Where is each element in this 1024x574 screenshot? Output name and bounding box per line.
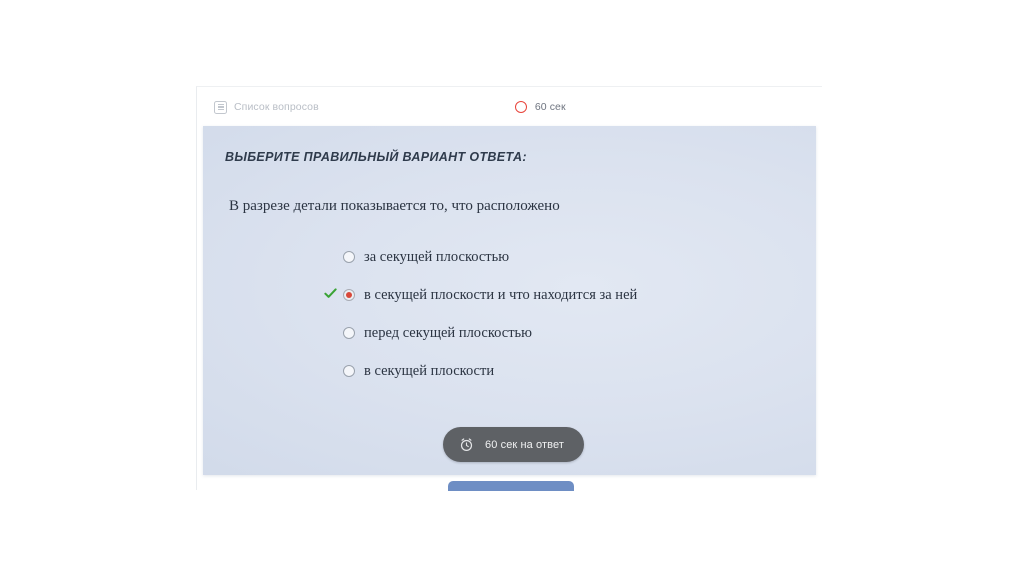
slide-heading: ВЫБЕРИТЕ ПРАВИЛЬНЫЙ ВАРИАНТ ОТВЕТА: xyxy=(225,150,527,164)
answer-option[interactable]: за секущей плоскостью xyxy=(343,248,637,266)
screenshot-root: Список вопросов 60 сек ВЫБЕРИТЕ ПРАВИЛЬН… xyxy=(0,0,1024,574)
bottom-action-bar[interactable] xyxy=(448,481,574,491)
question-slide: ВЫБЕРИТЕ ПРАВИЛЬНЫЙ ВАРИАНТ ОТВЕТА: В ра… xyxy=(203,126,816,475)
toolbar-timer-label: 60 сек xyxy=(535,101,566,113)
answer-timer-label: 60 сек на ответ xyxy=(485,439,564,451)
alarm-clock-icon xyxy=(459,437,474,452)
radio-button[interactable] xyxy=(343,365,355,377)
answer-option[interactable]: в секущей плоскости xyxy=(343,362,637,380)
radio-button[interactable] xyxy=(343,251,355,263)
answer-option[interactable]: перед секущей плоскостью xyxy=(343,324,637,342)
radio-button[interactable] xyxy=(343,327,355,339)
list-icon xyxy=(214,101,227,114)
answer-options-list: за секущей плоскостью в секущей плоскост… xyxy=(343,248,637,380)
answer-option-label: за секущей плоскостью xyxy=(364,249,509,266)
toolbar-timer: 60 сек xyxy=(515,101,566,113)
answer-option-label: в секущей плоскости и что находится за н… xyxy=(364,287,637,304)
answer-option-label: в секущей плоскости xyxy=(364,363,494,380)
question-text: В разрезе детали показывается то, что ра… xyxy=(229,198,560,215)
checkmark-icon xyxy=(324,287,337,300)
question-list-button[interactable]: Список вопросов xyxy=(214,101,319,114)
question-list-label: Список вопросов xyxy=(234,101,319,113)
quiz-toolbar: Список вопросов 60 сек xyxy=(197,87,817,127)
circle-timer-icon xyxy=(515,101,527,113)
answer-timer-button[interactable]: 60 сек на ответ xyxy=(443,427,584,462)
answer-option-selected[interactable]: в секущей плоскости и что находится за н… xyxy=(343,286,637,304)
answer-option-label: перед секущей плоскостью xyxy=(364,325,532,342)
scrollbar-track[interactable] xyxy=(822,86,831,490)
radio-button-selected[interactable] xyxy=(343,289,355,301)
